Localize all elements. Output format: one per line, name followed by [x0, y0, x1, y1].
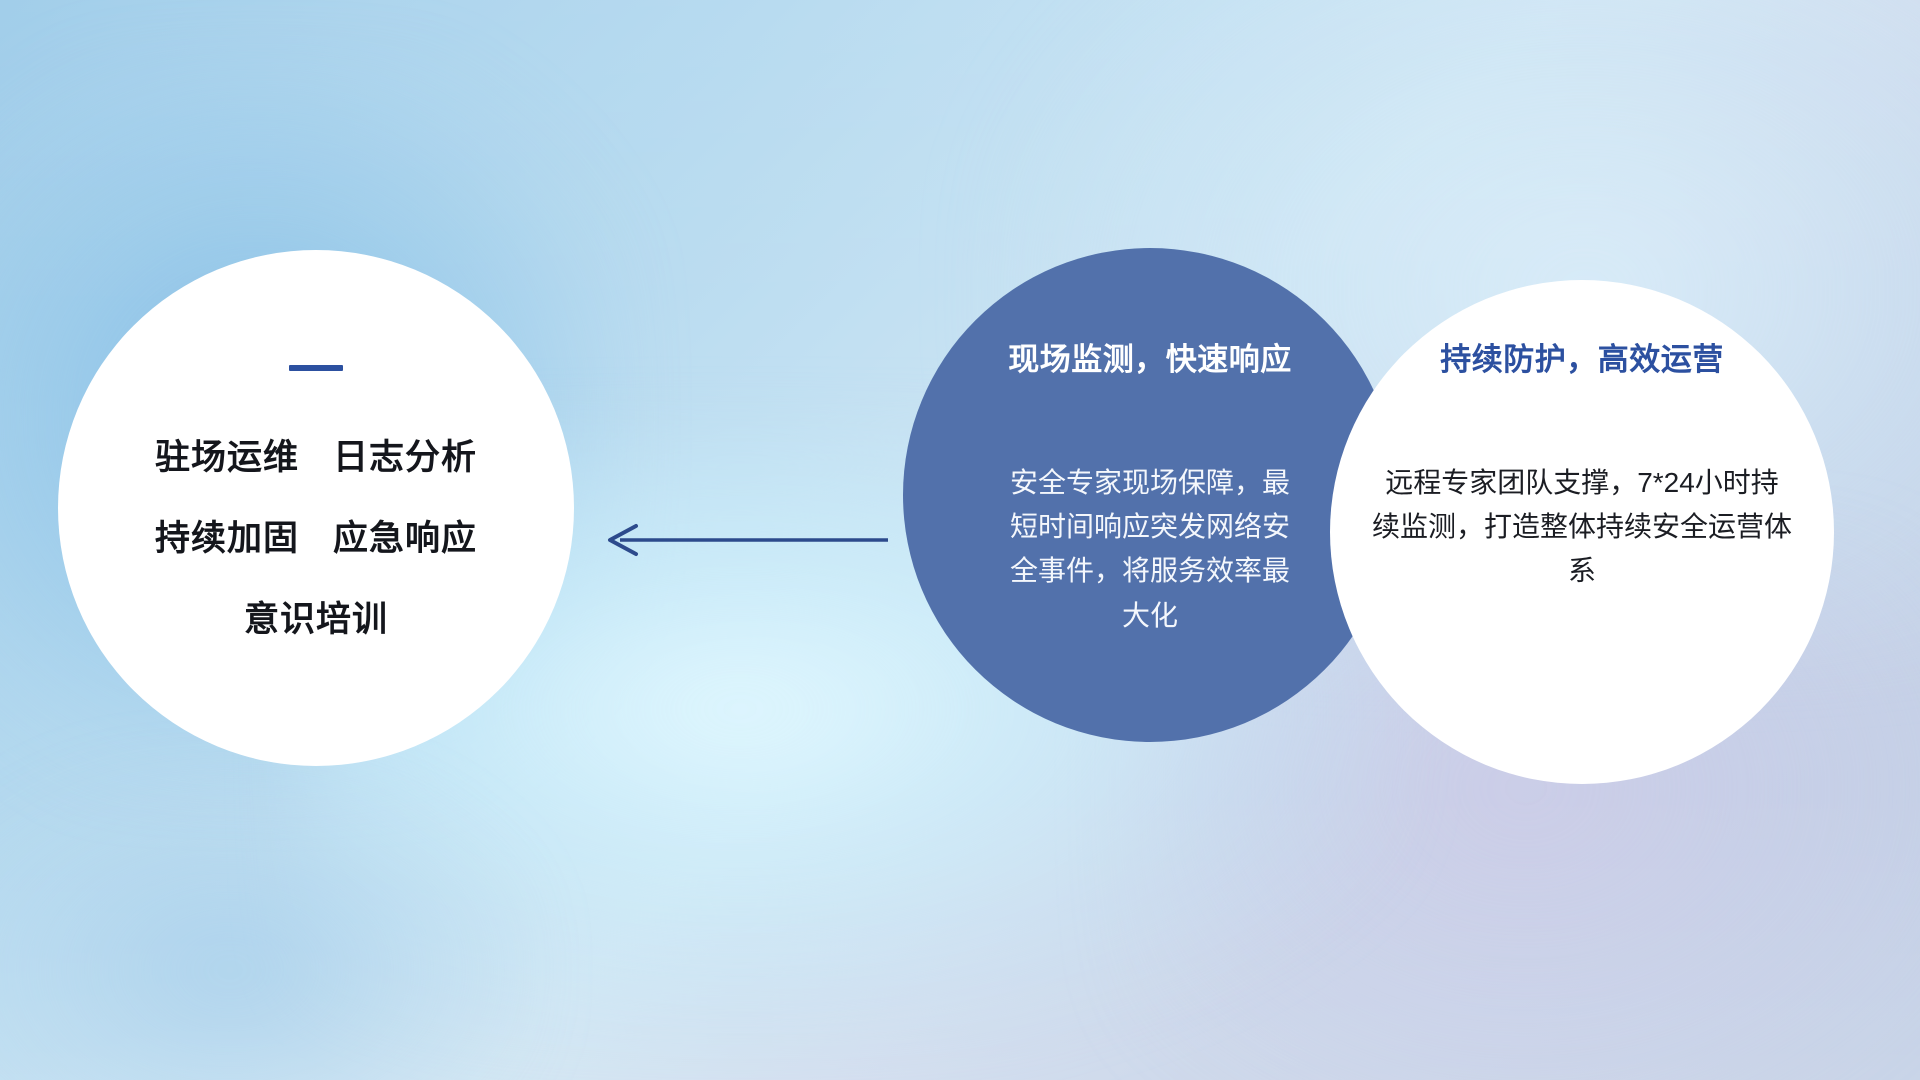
capability-tag: 应急响应 — [333, 510, 477, 561]
capability-tag-list: 驻场运维 日志分析 持续加固 应急响应 意识培训 — [155, 429, 477, 642]
right-circle-title: 持续防护，高效运营 — [1440, 334, 1724, 379]
slide-canvas: 驻场运维 日志分析 持续加固 应急响应 意识培训 现场监测，快速响应 安全专家现… — [0, 0, 1920, 1080]
capability-circle-left[interactable]: 驻场运维 日志分析 持续加固 应急响应 意识培训 — [58, 250, 574, 766]
capability-tag-row: 持续加固 应急响应 — [155, 510, 477, 561]
capability-tag-row: 驻场运维 日志分析 — [155, 429, 477, 480]
capability-tag: 驻场运维 — [155, 429, 299, 480]
left-arrow-icon — [590, 500, 890, 580]
horizontal-dash-icon — [289, 365, 343, 371]
capability-circle-middle[interactable]: 现场监测，快速响应 安全专家现场保障，最短时间响应突发网络安全事件，将服务效率最… — [903, 248, 1397, 742]
capability-tag: 持续加固 — [155, 510, 299, 561]
right-circle-body: 远程专家团队支撑，7*24小时持续监测，打造整体持续安全运营体系 — [1372, 461, 1792, 594]
middle-circle-body: 安全专家现场保障，最短时间响应突发网络安全事件，将服务效率最大化 — [1000, 461, 1300, 638]
middle-circle-title: 现场监测，快速响应 — [1008, 334, 1292, 379]
capability-tag-row: 意识培训 — [244, 591, 388, 642]
capability-circle-right[interactable]: 持续防护，高效运营 远程专家团队支撑，7*24小时持续监测，打造整体持续安全运营… — [1330, 280, 1834, 784]
capability-tag: 日志分析 — [333, 429, 477, 480]
capability-tag: 意识培训 — [244, 591, 388, 642]
